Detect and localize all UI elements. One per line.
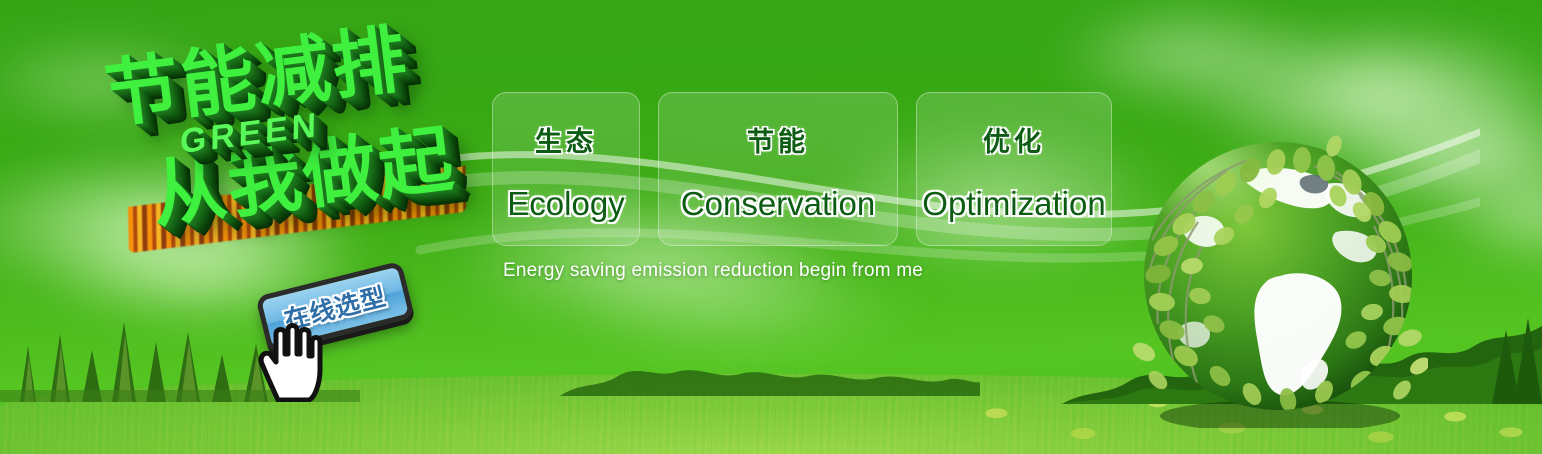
feature-card-cn-label: 优化 xyxy=(983,120,1045,159)
pointing-hand-cursor-icon xyxy=(252,320,326,402)
cloud-shape xyxy=(1430,165,1542,265)
headline-line-green: GREEN xyxy=(180,107,321,161)
feature-card-en-label: Optimization xyxy=(922,185,1105,223)
online-selection-cta[interactable]: 在线选型 xyxy=(252,272,432,392)
headline-3d-text: 节能减排 GREEN 从我做起 xyxy=(83,12,508,289)
feature-card-cn-label: 生态 xyxy=(535,120,597,159)
ember-base xyxy=(128,165,466,253)
headline-line-1: 节能减排 xyxy=(101,12,489,132)
cloud-shape xyxy=(0,35,240,130)
tagline: Energy saving emission reduction begin f… xyxy=(503,260,923,282)
feature-card-optimization[interactable]: 优化 Optimization xyxy=(916,92,1112,246)
headline-line-3: 从我做起 xyxy=(148,116,503,234)
feature-card-ecology[interactable]: 生态 Ecology xyxy=(492,92,640,246)
feature-card-cn-label: 节能 xyxy=(747,120,809,159)
feature-card-list: 生态 Ecology 节能 Conservation 优化 Optimizati… xyxy=(492,92,1112,246)
feature-card-en-label: Ecology xyxy=(507,185,624,223)
leafy-green-globe-icon xyxy=(1128,128,1428,428)
feature-card-en-label: Conservation xyxy=(681,185,875,223)
feature-card-conservation[interactable]: 节能 Conservation xyxy=(658,92,898,246)
hero-banner: 节能减排 GREEN 从我做起 在线选型 生态 Ecology 节能 Conse… xyxy=(0,0,1542,454)
